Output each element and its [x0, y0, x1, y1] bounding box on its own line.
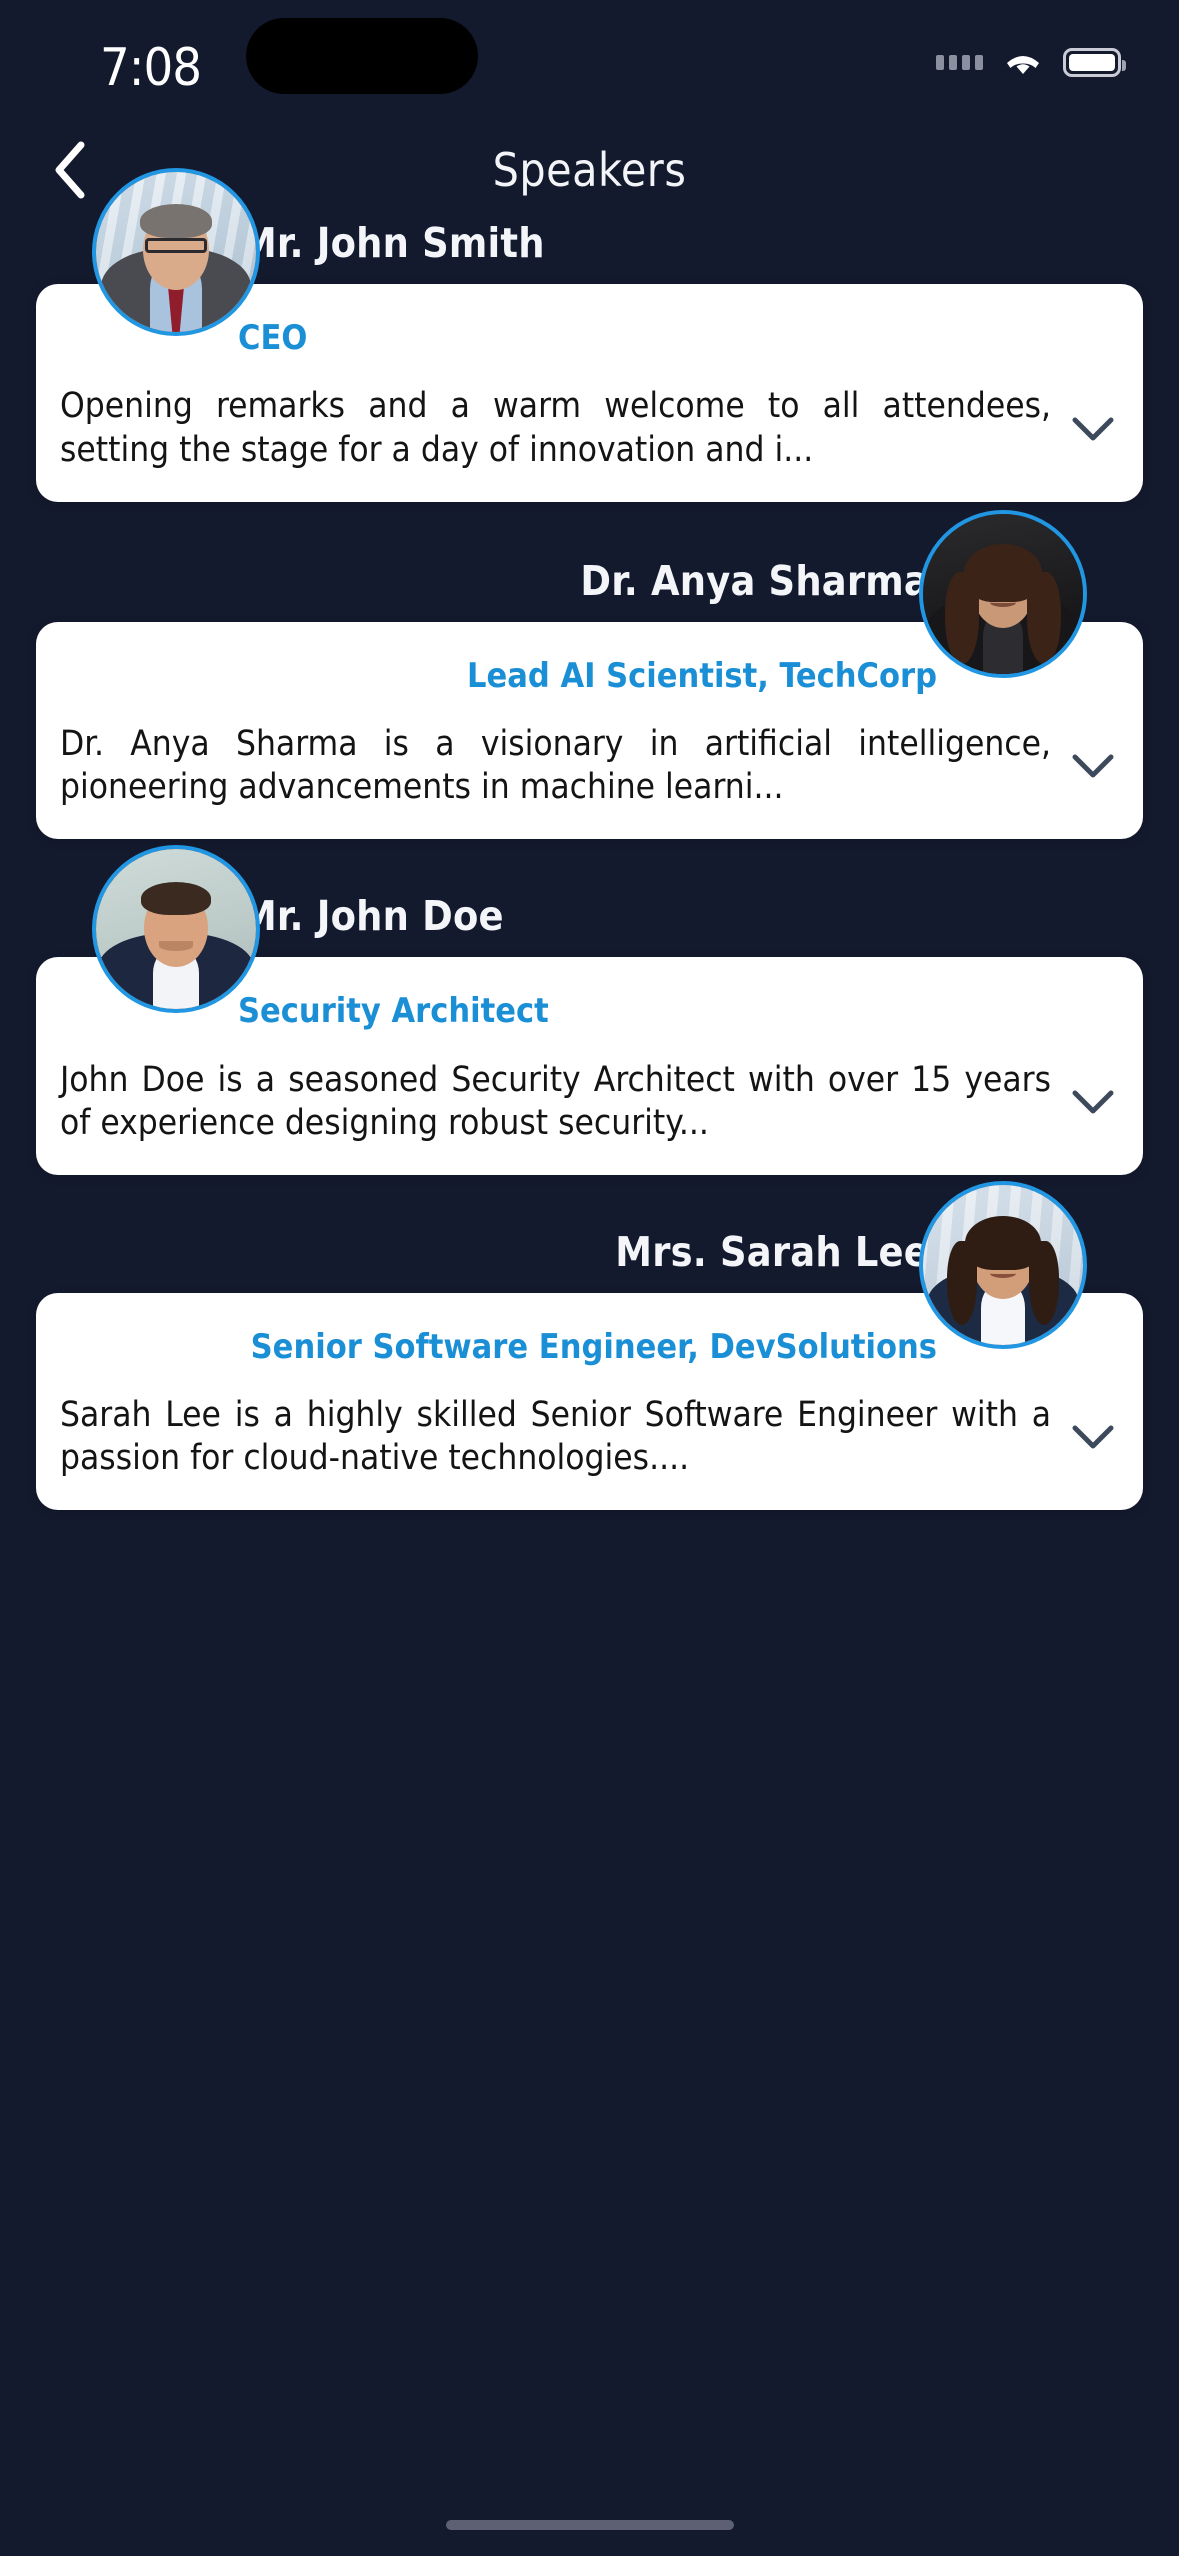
phone-screen: 7:08 Speakers: [0, 0, 1179, 2556]
speaker-name: Mrs. Sarah Lee: [615, 1228, 929, 1276]
avatar-photo: [96, 849, 256, 1009]
speaker-list: Mr. John Smith CEO: [0, 212, 1179, 1510]
chevron-down-icon: [1070, 1422, 1116, 1452]
dynamic-island: [246, 18, 478, 94]
chevron-left-icon: [51, 139, 91, 201]
speaker-name: Mr. John Smith: [240, 219, 545, 267]
status-bar: 7:08: [0, 0, 1179, 130]
speaker-bio-row: Dr. Anya Sharma is a visionary in artifi…: [60, 723, 1119, 809]
expand-button[interactable]: [1067, 740, 1119, 792]
avatar-photo: [923, 1185, 1083, 1345]
battery-full-icon: [1063, 48, 1121, 77]
wifi-icon: [1003, 47, 1043, 77]
speaker-bio-row: John Doe is a seasoned Security Architec…: [60, 1059, 1119, 1145]
expand-button[interactable]: [1067, 1411, 1119, 1463]
speaker-card[interactable]: Lead AI Scientist, TechCorp Dr. Anya Sha…: [36, 622, 1143, 840]
chevron-down-icon: [1070, 751, 1116, 781]
speaker-bio-row: Sarah Lee is a highly skilled Senior Sof…: [60, 1394, 1119, 1480]
list-item[interactable]: Mr. John Smith CEO: [0, 212, 1179, 502]
avatar: [919, 510, 1087, 678]
speaker-name: Mr. John Doe: [240, 892, 504, 940]
avatar: [92, 845, 260, 1013]
speaker-bio: Dr. Anya Sharma is a visionary in artifi…: [60, 723, 1051, 809]
avatar-photo: [96, 172, 256, 332]
speaker-bio: John Doe is a seasoned Security Architec…: [60, 1059, 1051, 1145]
expand-button[interactable]: [1067, 1076, 1119, 1128]
home-indicator[interactable]: [446, 2520, 734, 2530]
list-item[interactable]: Dr. Anya Sharma Lead AI Scientist,: [0, 550, 1179, 840]
speaker-bio: Sarah Lee is a highly skilled Senior Sof…: [60, 1394, 1051, 1480]
list-item[interactable]: Mr. John Doe Security Architect John Doe: [0, 885, 1179, 1175]
avatar: [92, 168, 260, 336]
speaker-card[interactable]: Senior Software Engineer, DevSolutions S…: [36, 1293, 1143, 1511]
chevron-down-icon: [1070, 414, 1116, 444]
avatar-photo: [923, 514, 1083, 674]
list-item[interactable]: Mrs. Sarah Lee Senior: [0, 1221, 1179, 1511]
speaker-card[interactable]: CEO Opening remarks and a warm welcome t…: [36, 284, 1143, 502]
avatar: [919, 1181, 1087, 1349]
chevron-down-icon: [1070, 1087, 1116, 1117]
speaker-name: Dr. Anya Sharma: [580, 557, 929, 605]
expand-button[interactable]: [1067, 403, 1119, 455]
signal-dots-icon: [936, 55, 983, 70]
speaker-bio: Opening remarks and a warm welcome to al…: [60, 385, 1051, 471]
status-bar-indicators: [936, 40, 1121, 84]
speaker-card[interactable]: Security Architect John Doe is a seasone…: [36, 957, 1143, 1175]
speaker-bio-row: Opening remarks and a warm welcome to al…: [60, 385, 1119, 471]
